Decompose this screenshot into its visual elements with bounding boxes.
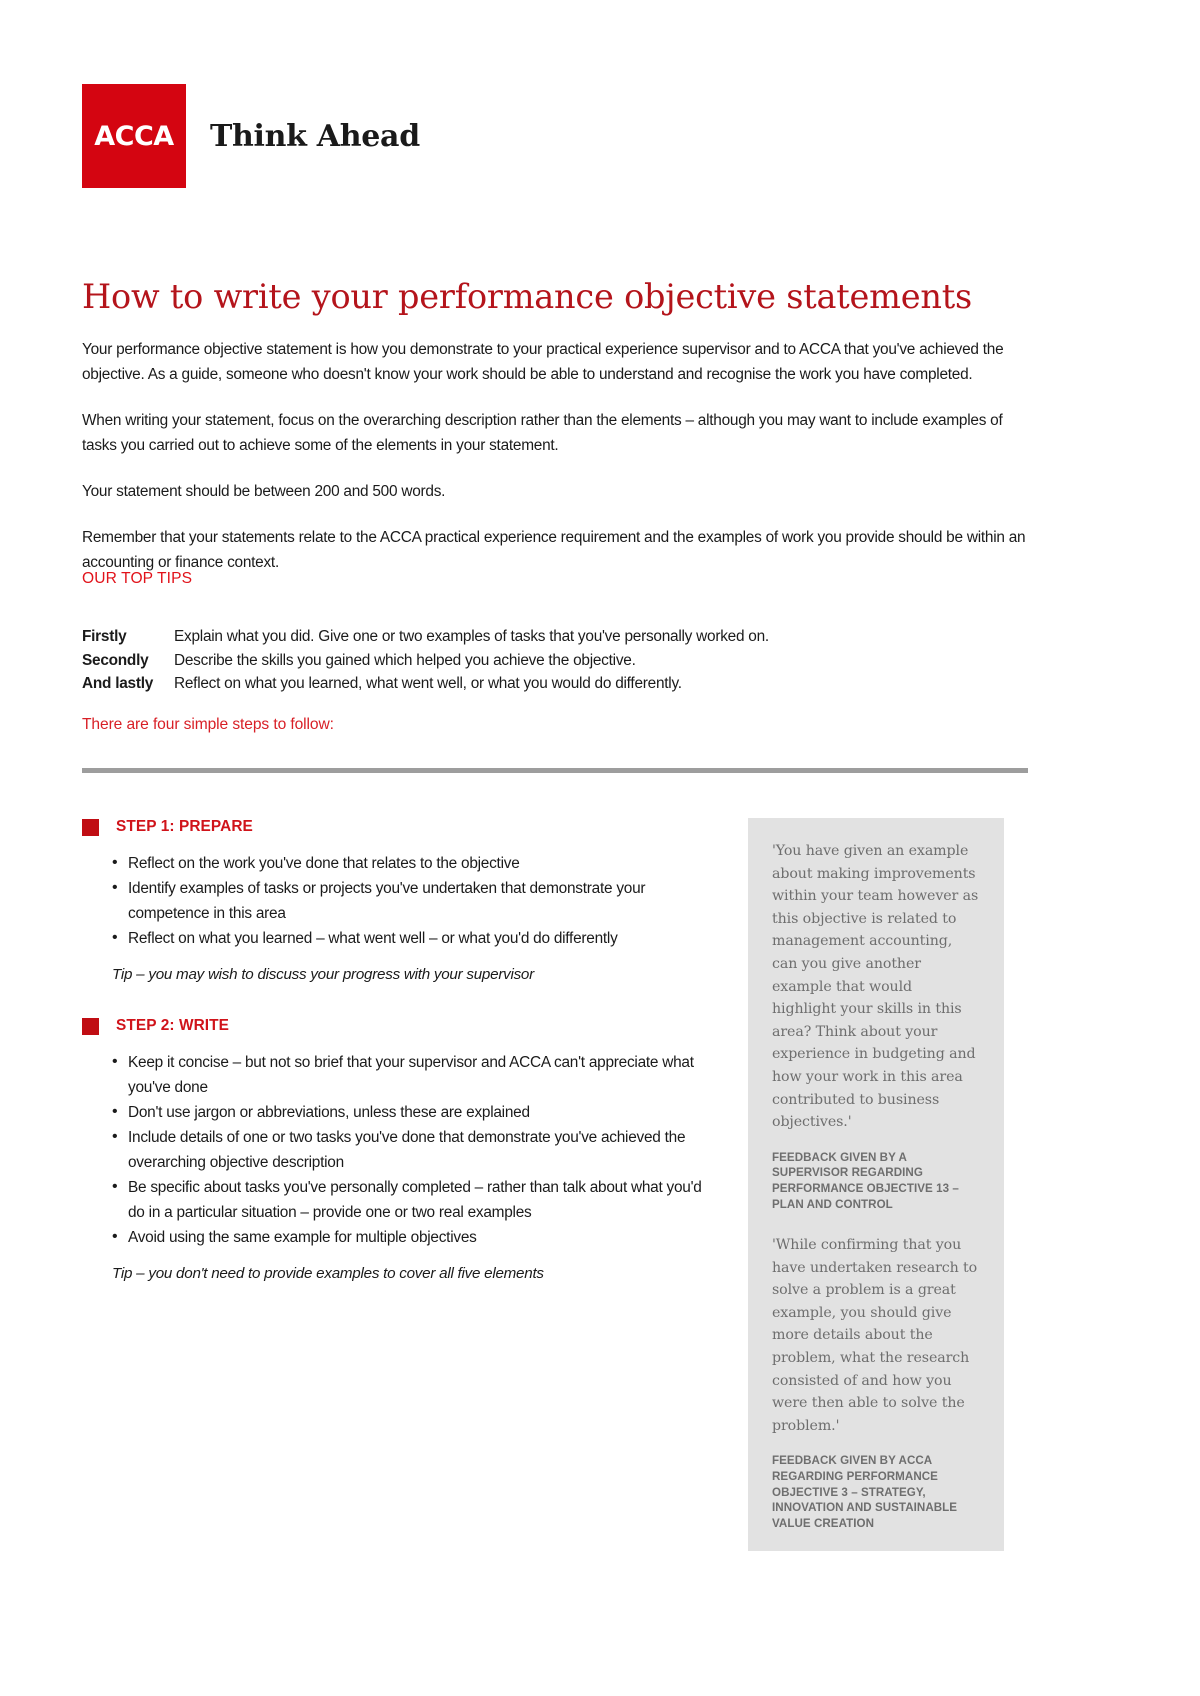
list-item: Reflect on the work you've done that rel… [82, 851, 707, 876]
table-row: Secondly Describe the skills you gained … [82, 649, 982, 673]
top-tips-heading: OUR TOP TIPS [82, 570, 192, 588]
intro-paragraph-2: When writing your statement, focus on th… [82, 408, 1027, 458]
steps-column: STEP 1: PREPARE Reflect on the work you'… [82, 818, 707, 1286]
feedback-quote-box-1: 'You have given an example about making … [748, 818, 1004, 1248]
acca-logo: ACCA [82, 84, 186, 188]
red-square-icon [82, 819, 99, 836]
feedback-quote-box-2: 'While confirming that you have undertak… [748, 1212, 1004, 1551]
brand-header: ACCA Think Ahead [82, 84, 420, 188]
intro-section: Your performance objective statement is … [82, 337, 1027, 575]
four-steps-lead-in: There are four simple steps to follow: [82, 716, 334, 734]
acca-logo-text: ACCA [94, 123, 173, 150]
tip-text: Reflect on what you learned, what went w… [174, 672, 982, 696]
top-tips-table: Firstly Explain what you did. Give one o… [82, 625, 982, 696]
table-row: And lastly Reflect on what you learned, … [82, 672, 982, 696]
list-item: Reflect on what you learned – what went … [82, 926, 707, 951]
list-item: Don't use jargon or abbreviations, unles… [82, 1100, 707, 1125]
tip-label: Secondly [82, 649, 174, 673]
step-2-header: STEP 2: WRITE [82, 1017, 707, 1035]
intro-paragraph-4: Remember that your statements relate to … [82, 525, 1027, 575]
section-divider [82, 768, 1028, 773]
step-1-title: STEP 1: PREPARE [116, 818, 253, 836]
list-item: Identify examples of tasks or projects y… [82, 876, 707, 926]
quote-text: 'While confirming that you have undertak… [772, 1234, 980, 1437]
step-2-title: STEP 2: WRITE [116, 1017, 229, 1035]
document-page: ACCA Think Ahead How to write your perfo… [0, 0, 1200, 1696]
quote-caption: FEEDBACK GIVEN BY ACCA REGARDING PERFORM… [772, 1453, 980, 1531]
list-item: Avoid using the same example for multipl… [82, 1225, 707, 1250]
tip-text: Explain what you did. Give one or two ex… [174, 625, 982, 649]
step-1-bullets: Reflect on the work you've done that rel… [82, 851, 707, 951]
step-2: STEP 2: WRITE Keep it concise – but not … [82, 1017, 707, 1286]
step-1-tip: Tip – you may wish to discuss your progr… [82, 963, 707, 987]
step-1-header: STEP 1: PREPARE [82, 818, 707, 836]
list-item: Keep it concise – but not so brief that … [82, 1050, 707, 1100]
step-2-tip: Tip – you don't need to provide examples… [82, 1262, 707, 1286]
tip-label: And lastly [82, 672, 174, 696]
page-title: How to write your performance objective … [82, 277, 972, 316]
tip-label: Firstly [82, 625, 174, 649]
quote-text: 'You have given an example about making … [772, 840, 980, 1134]
brand-tagline: Think Ahead [210, 119, 420, 154]
list-item: Include details of one or two tasks you'… [82, 1125, 707, 1175]
list-item: Be specific about tasks you've personall… [82, 1175, 707, 1225]
intro-paragraph-1: Your performance objective statement is … [82, 337, 1027, 387]
step-1: STEP 1: PREPARE Reflect on the work you'… [82, 818, 707, 987]
tip-text: Describe the skills you gained which hel… [174, 649, 982, 673]
red-square-icon [82, 1018, 99, 1035]
table-row: Firstly Explain what you did. Give one o… [82, 625, 982, 649]
step-2-bullets: Keep it concise – but not so brief that … [82, 1050, 707, 1250]
intro-paragraph-3: Your statement should be between 200 and… [82, 479, 1027, 504]
step-spacer [82, 987, 707, 1017]
